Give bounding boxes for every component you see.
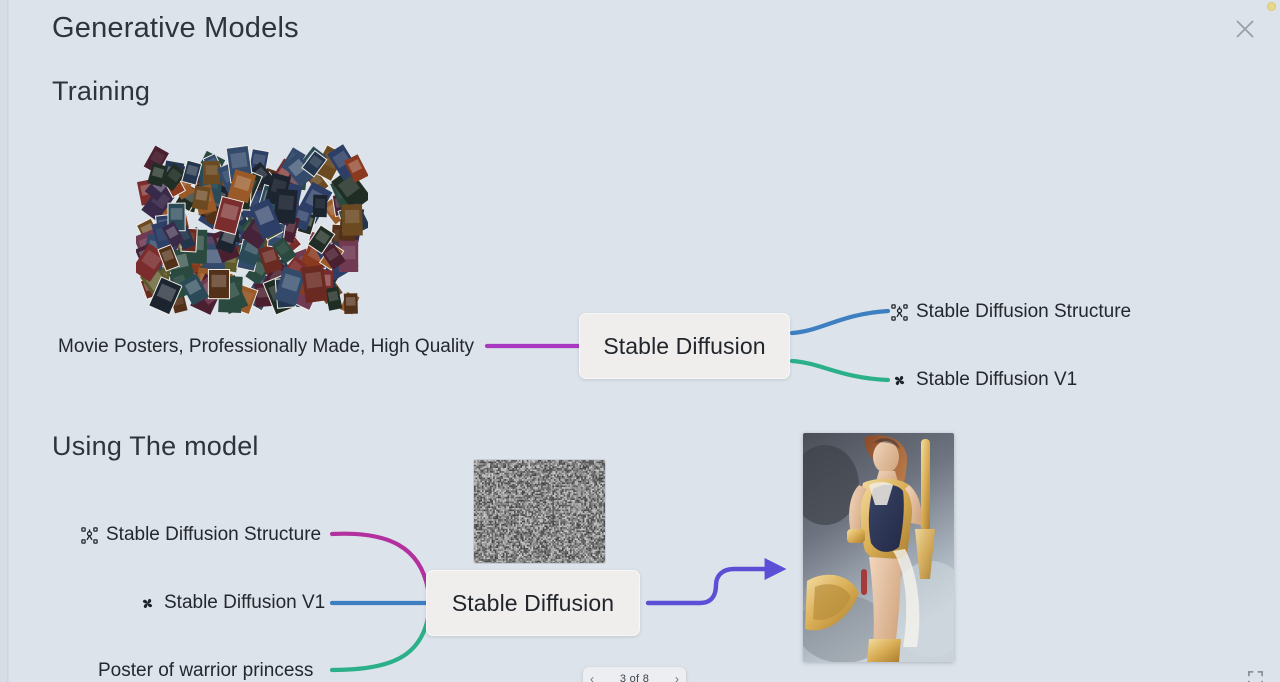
close-icon[interactable]	[1230, 14, 1260, 44]
wire-prompt-to-use-node	[332, 618, 428, 670]
movie-poster-collage-image[interactable]	[136, 143, 368, 316]
leaf-stable-diffusion-v1-training[interactable]: Stable Diffusion V1	[890, 369, 1077, 391]
section-heading-using: Using The model	[52, 431, 259, 462]
gaussian-noise-image[interactable]	[474, 460, 605, 563]
network-nodes-icon	[80, 526, 99, 545]
warrior-princess-output-image[interactable]	[803, 433, 954, 662]
leaf-stable-diffusion-structure-using[interactable]: Stable Diffusion Structure	[80, 524, 321, 546]
chevron-left-icon[interactable]: ‹	[590, 673, 594, 682]
page-title: Generative Models	[52, 12, 299, 45]
unsaved-dot-icon	[1267, 2, 1276, 11]
page-indicator: 3 of 8	[620, 673, 649, 682]
pinwheel-icon	[890, 371, 909, 390]
canvas-left-gutter	[0, 0, 9, 682]
leaf-label: Stable Diffusion V1	[164, 592, 325, 614]
leaf-label: Stable Diffusion V1	[916, 369, 1077, 391]
wire-structure-to-use-node	[332, 534, 428, 589]
leaf-label: Poster of warrior princess	[98, 660, 313, 682]
leaf-label: Stable Diffusion Structure	[106, 524, 321, 546]
dataset-caption: Movie Posters, Professionally Made, High…	[58, 336, 474, 358]
node-stable-diffusion-training[interactable]: Stable Diffusion	[579, 313, 790, 379]
wire-train-node-to-structure	[792, 311, 888, 333]
slide-pager[interactable]: ‹ 3 of 8 ›	[583, 667, 686, 682]
presentation-canvas: Generative Models Training Using The mod…	[0, 0, 1280, 682]
wire-train-node-to-v1	[792, 361, 888, 380]
pinwheel-icon	[138, 594, 157, 613]
network-nodes-icon	[890, 303, 909, 322]
leaf-label: Stable Diffusion Structure	[916, 301, 1131, 323]
node-stable-diffusion-using[interactable]: Stable Diffusion	[426, 570, 640, 636]
leaf-prompt-warrior-princess[interactable]: Poster of warrior princess	[98, 660, 313, 682]
chevron-right-icon[interactable]: ›	[675, 673, 679, 682]
fit-to-screen-icon[interactable]	[1242, 666, 1268, 682]
wire-use-node-to-output	[648, 569, 776, 603]
leaf-stable-diffusion-v1-using[interactable]: Stable Diffusion V1	[138, 592, 325, 614]
section-heading-training: Training	[52, 76, 150, 107]
leaf-stable-diffusion-structure-training[interactable]: Stable Diffusion Structure	[890, 301, 1131, 323]
